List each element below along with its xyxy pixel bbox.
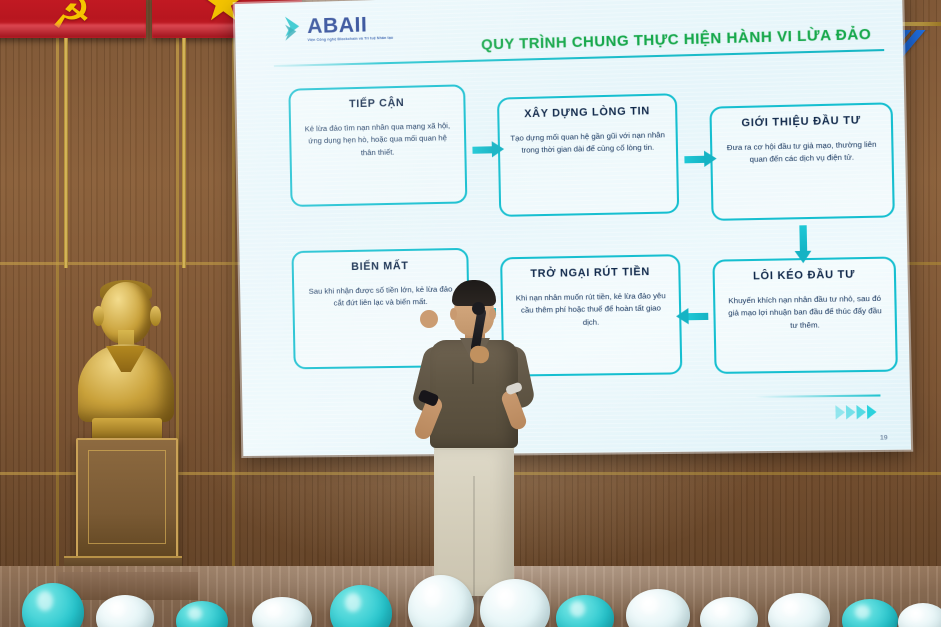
step-body: Khuyến khích nạn nhân đầu tư nhỏ, sau đó… <box>726 293 885 333</box>
balloon-row <box>0 586 941 627</box>
slide-page-number: 19 <box>880 434 888 441</box>
process-flow-diagram: TIẾP CẬN Kẻ lừa đảo tìm nạn nhân qua mạn… <box>235 0 911 456</box>
ho-chi-minh-bust <box>72 282 182 582</box>
bust-base <box>92 418 162 440</box>
step-body: Kẻ lừa đảo tìm nạn nhân qua mạng xã hội,… <box>301 120 454 161</box>
arrow-step2-to-step3-icon <box>684 156 705 164</box>
step-heading: TIẾP CẬN <box>301 96 454 112</box>
step-box-loi-keo-dau-tu: LÔI KÉO ĐẦU TƯ Khuyến khích nạn nhân đầu… <box>712 256 898 373</box>
flag-pole <box>182 38 186 268</box>
step-heading: LÔI KÉO ĐẦU TƯ <box>725 268 883 283</box>
balloon <box>330 585 392 627</box>
step-heading: TRỞ NGẠI RÚT TIỀN <box>513 266 669 281</box>
arrow-step1-to-step2-icon <box>472 146 493 154</box>
trouser-seam <box>473 476 475 596</box>
step-heading: GIỚI THIỆU ĐẦU TƯ <box>722 114 880 130</box>
step-box-gioi-thieu-dau-tu: GIỚI THIỆU ĐẦU TƯ Đưa ra cơ hội đầu tư g… <box>709 102 895 221</box>
balloon <box>842 599 898 627</box>
chevron-right-icon <box>846 405 856 419</box>
presenter-raised-fist <box>420 310 438 328</box>
wall-seam <box>56 0 59 627</box>
flag-drape <box>0 24 146 38</box>
conference-room-scene: ☭ <box>0 0 941 627</box>
projection-screen: ABAII Viện Công nghệ Blockchain và Trí t… <box>235 0 911 456</box>
balloon <box>898 603 941 627</box>
chevron-right-icon <box>856 405 866 419</box>
balloon <box>768 593 830 627</box>
step-heading: XÂY DỰNG LÒNG TIN <box>509 105 665 121</box>
presenter-ear <box>489 308 496 320</box>
bust-ear <box>93 306 104 326</box>
step-box-tiep-can: TIẾP CẬN Kẻ lừa đảo tìm nạn nhân qua mạn… <box>288 84 467 207</box>
bust-pedestal <box>76 438 178 564</box>
presenter <box>408 280 538 600</box>
arrow-step3-to-step4-icon <box>799 225 807 252</box>
step-body: Tạo dựng mối quan hệ gần gũi với nạn nhâ… <box>510 129 666 157</box>
balloon <box>700 597 758 627</box>
balloon <box>252 597 312 627</box>
balloon <box>556 595 614 627</box>
chevron-right-icon <box>867 405 877 419</box>
balloon <box>626 589 690 627</box>
balloon <box>96 595 154 627</box>
communist-party-flag: ☭ <box>0 0 146 38</box>
chevron-decoration <box>835 405 876 420</box>
microphone-icon <box>472 302 485 315</box>
step-body: Đưa ra cơ hội đầu tư giả mạo, thường liê… <box>723 139 882 168</box>
step-heading: BIẾN MẤT <box>304 259 457 274</box>
step-box-xay-dung-long-tin: XÂY DỰNG LÒNG TIN Tạo dựng mối quan hệ g… <box>497 93 679 217</box>
balloon <box>22 583 84 627</box>
presenter-ear <box>450 308 457 320</box>
arrow-step4-to-step5-icon <box>687 313 708 320</box>
balloon <box>176 601 228 627</box>
pedestal-panel <box>88 450 166 544</box>
flag-pole <box>64 38 68 268</box>
chevron-right-icon <box>835 405 845 419</box>
bust-ear <box>150 306 161 326</box>
balloon <box>480 579 550 627</box>
